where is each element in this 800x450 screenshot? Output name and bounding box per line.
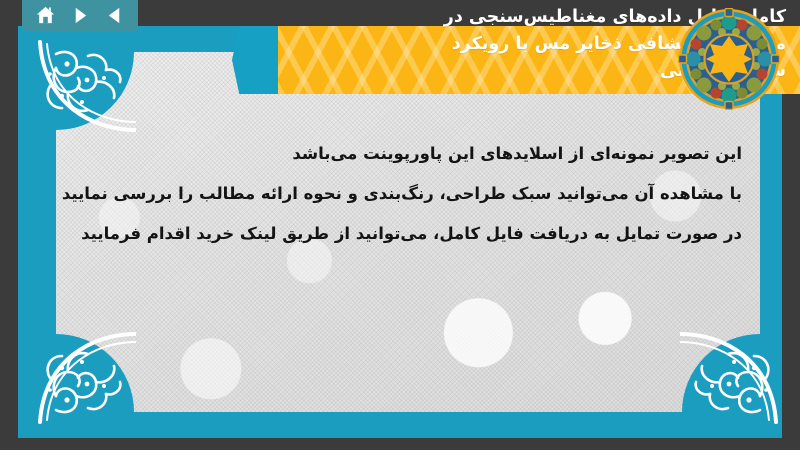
body-line-1: این تصویر نمونه‌ای از اسلایدهای این پاور… bbox=[78, 134, 742, 174]
panel-corner-top-left bbox=[56, 52, 134, 130]
banner-arrow-point bbox=[232, 26, 284, 94]
slide-navigation-bar bbox=[22, 0, 138, 32]
home-icon bbox=[35, 5, 56, 26]
triangle-left-icon bbox=[105, 6, 124, 25]
panel-corner-bottom-left bbox=[56, 334, 134, 412]
previous-slide-button[interactable] bbox=[102, 3, 128, 27]
presentation-slide: این تصویر نمونه‌ای از اسلایدهای این پاور… bbox=[0, 0, 800, 450]
panel-corner-bottom-right bbox=[682, 334, 760, 412]
home-button[interactable] bbox=[32, 3, 58, 27]
slide-body-text: این تصویر نمونه‌ای از اسلایدهای این پاور… bbox=[78, 134, 742, 254]
next-slide-button[interactable] bbox=[67, 3, 93, 27]
body-line-2: با مشاهده آن می‌توانید سبک طراحی، رنگ‌بن… bbox=[78, 174, 742, 214]
triangle-right-icon bbox=[71, 6, 90, 25]
body-line-3: در صورت تمایل به دریافت فایل کامل، می‌تو… bbox=[78, 214, 742, 254]
islamic-medallion-icon bbox=[678, 8, 780, 110]
